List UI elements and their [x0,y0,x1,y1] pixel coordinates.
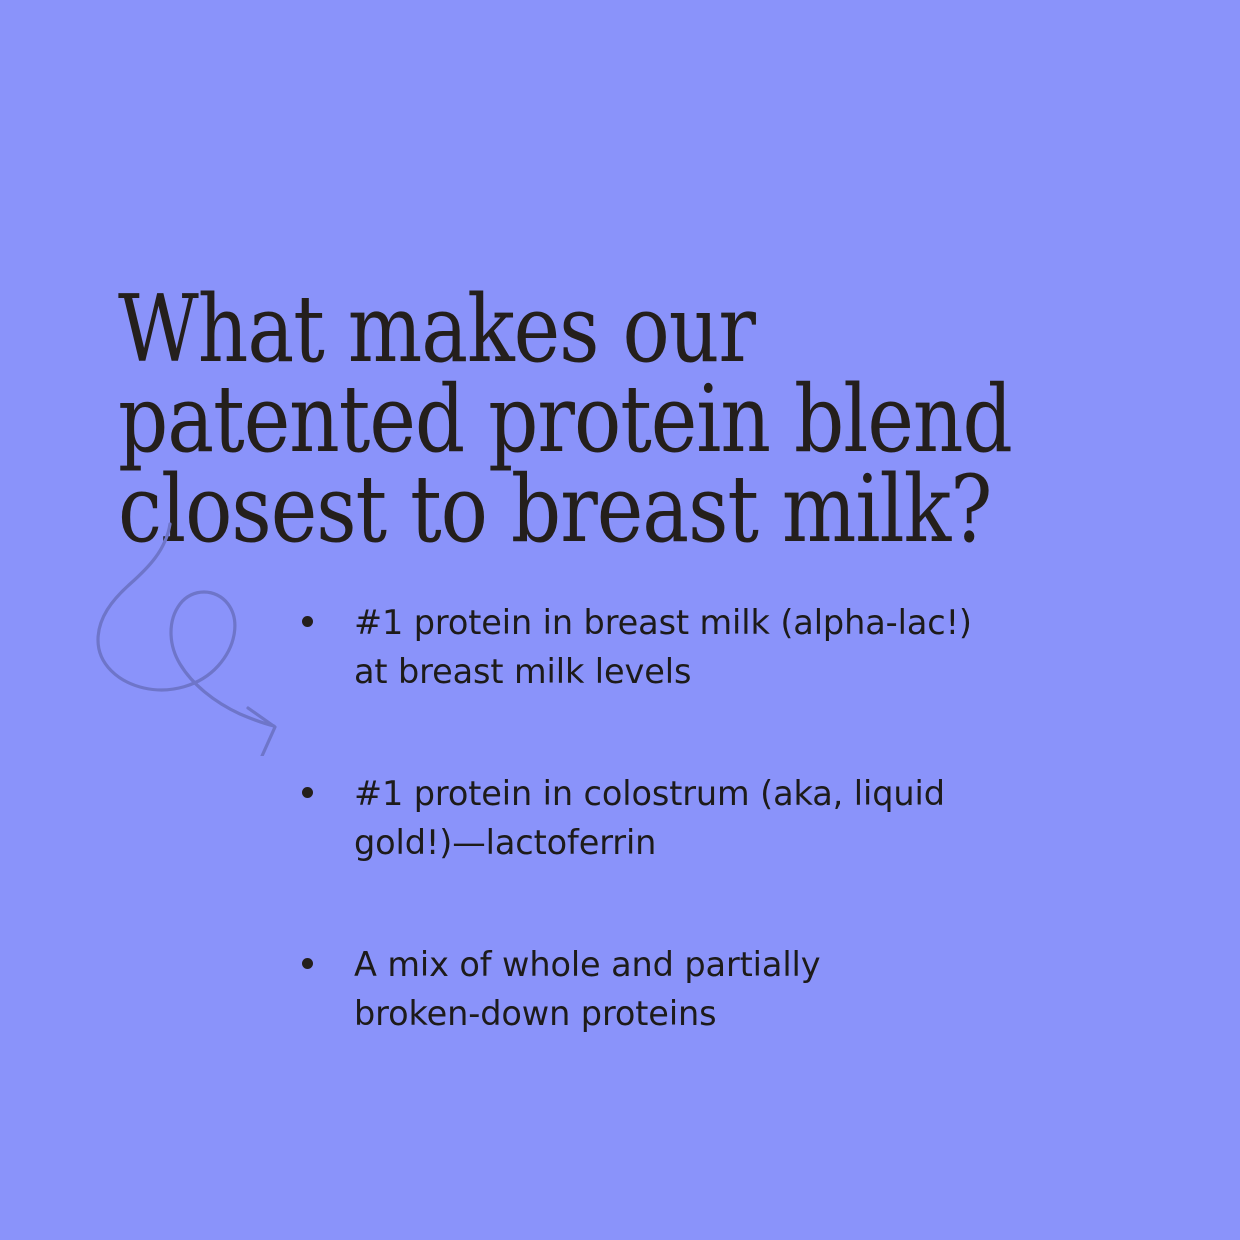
poster-canvas: What makes our patented protein blend cl… [0,0,1240,1240]
page-title: What makes our patented protein blend cl… [118,284,929,554]
list-item-label: #1 protein in breast milk (alpha-lac!) a… [354,598,1026,696]
bullet-dot-icon [302,616,313,627]
page-title-line-3: closest to breast milk? [118,464,929,554]
list-item: #1 protein in colostrum (aka, liquid gol… [296,769,1026,867]
list-item-label: A mix of whole and partially broken-down… [354,940,1026,1038]
page-title-line-1: What makes our [118,284,929,374]
bullet-dot-icon [302,787,313,798]
list-item: #1 protein in breast milk (alpha-lac!) a… [296,598,1026,696]
list-item: A mix of whole and partially broken-down… [296,940,1026,1038]
bullet-dot-icon [302,958,313,969]
page-title-line-2: patented protein blend [118,374,929,464]
feature-bullet-list: #1 protein in breast milk (alpha-lac!) a… [296,598,1026,1038]
list-item-label: #1 protein in colostrum (aka, liquid gol… [354,769,1026,867]
